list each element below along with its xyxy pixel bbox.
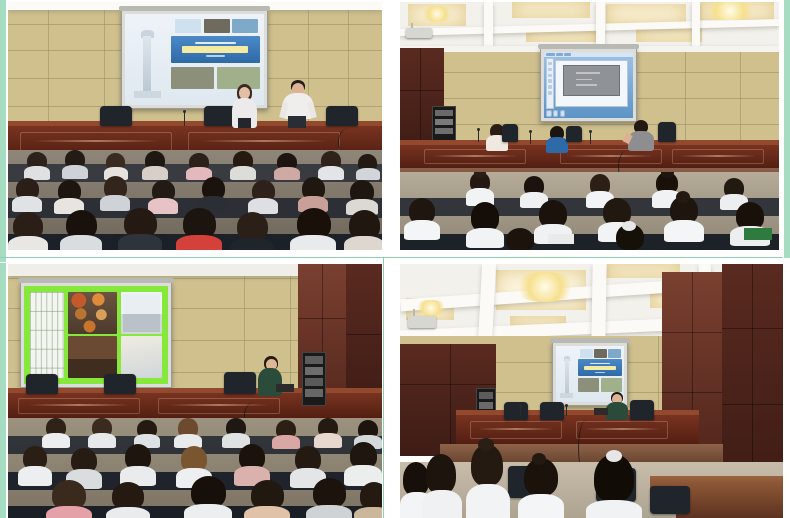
display-board: [302, 352, 326, 406]
chair: [100, 106, 132, 126]
photo-bottom-right-image: [400, 264, 783, 518]
photo-top-left-image: [8, 2, 382, 250]
presenter-man: [280, 80, 316, 128]
accent-divider-vertical: [383, 258, 384, 518]
accent-rail-left-bottom: [0, 263, 6, 518]
photo-top-right-image: [400, 2, 779, 250]
seated-staff: [546, 126, 568, 152]
collage-chart: [30, 292, 64, 379]
photo-collage: [0, 0, 790, 518]
chandelier: [512, 272, 578, 302]
laptop: [594, 408, 608, 415]
audience: [8, 418, 382, 518]
photo-bottom-left-image: [8, 264, 382, 518]
microphone: [184, 112, 185, 126]
ceiling-projector: [408, 316, 436, 328]
accent-divider-horizontal: [0, 257, 783, 258]
slide-monument-photo: [131, 30, 164, 97]
audience: [8, 150, 382, 250]
slide-windows-desktop: [544, 52, 633, 118]
head-table: [400, 144, 779, 168]
audience: [400, 172, 779, 250]
photo-top-right[interactable]: [400, 2, 779, 250]
projection-screen: [20, 282, 172, 388]
collage-food-photo: [68, 292, 117, 334]
slide-green-collage: [24, 286, 168, 384]
photo-bottom-right[interactable]: [400, 264, 783, 518]
chandelier: [414, 300, 448, 316]
projection-screen: [540, 48, 637, 122]
collage-room-photo: [121, 336, 162, 378]
audience: [400, 434, 783, 518]
accent-rail-left-top: [0, 0, 6, 262]
display-board: [432, 106, 456, 144]
slide-title-band: [171, 36, 260, 63]
photo-bottom-left[interactable]: [8, 264, 382, 518]
collage-room-photo: [121, 292, 162, 334]
seated-staff: [628, 120, 654, 152]
laptop: [276, 384, 294, 392]
slide-header-thumbnails: [175, 19, 258, 34]
chair: [326, 106, 358, 126]
collage-lobby-photo: [68, 336, 117, 378]
ceiling-projector: [406, 28, 432, 38]
audience-foreground: [118, 208, 162, 250]
presenter-woman: [230, 84, 258, 128]
presenter-speaker: [606, 392, 628, 420]
photo-top-left[interactable]: [8, 2, 382, 250]
accent-rail-right-top: [784, 0, 790, 258]
